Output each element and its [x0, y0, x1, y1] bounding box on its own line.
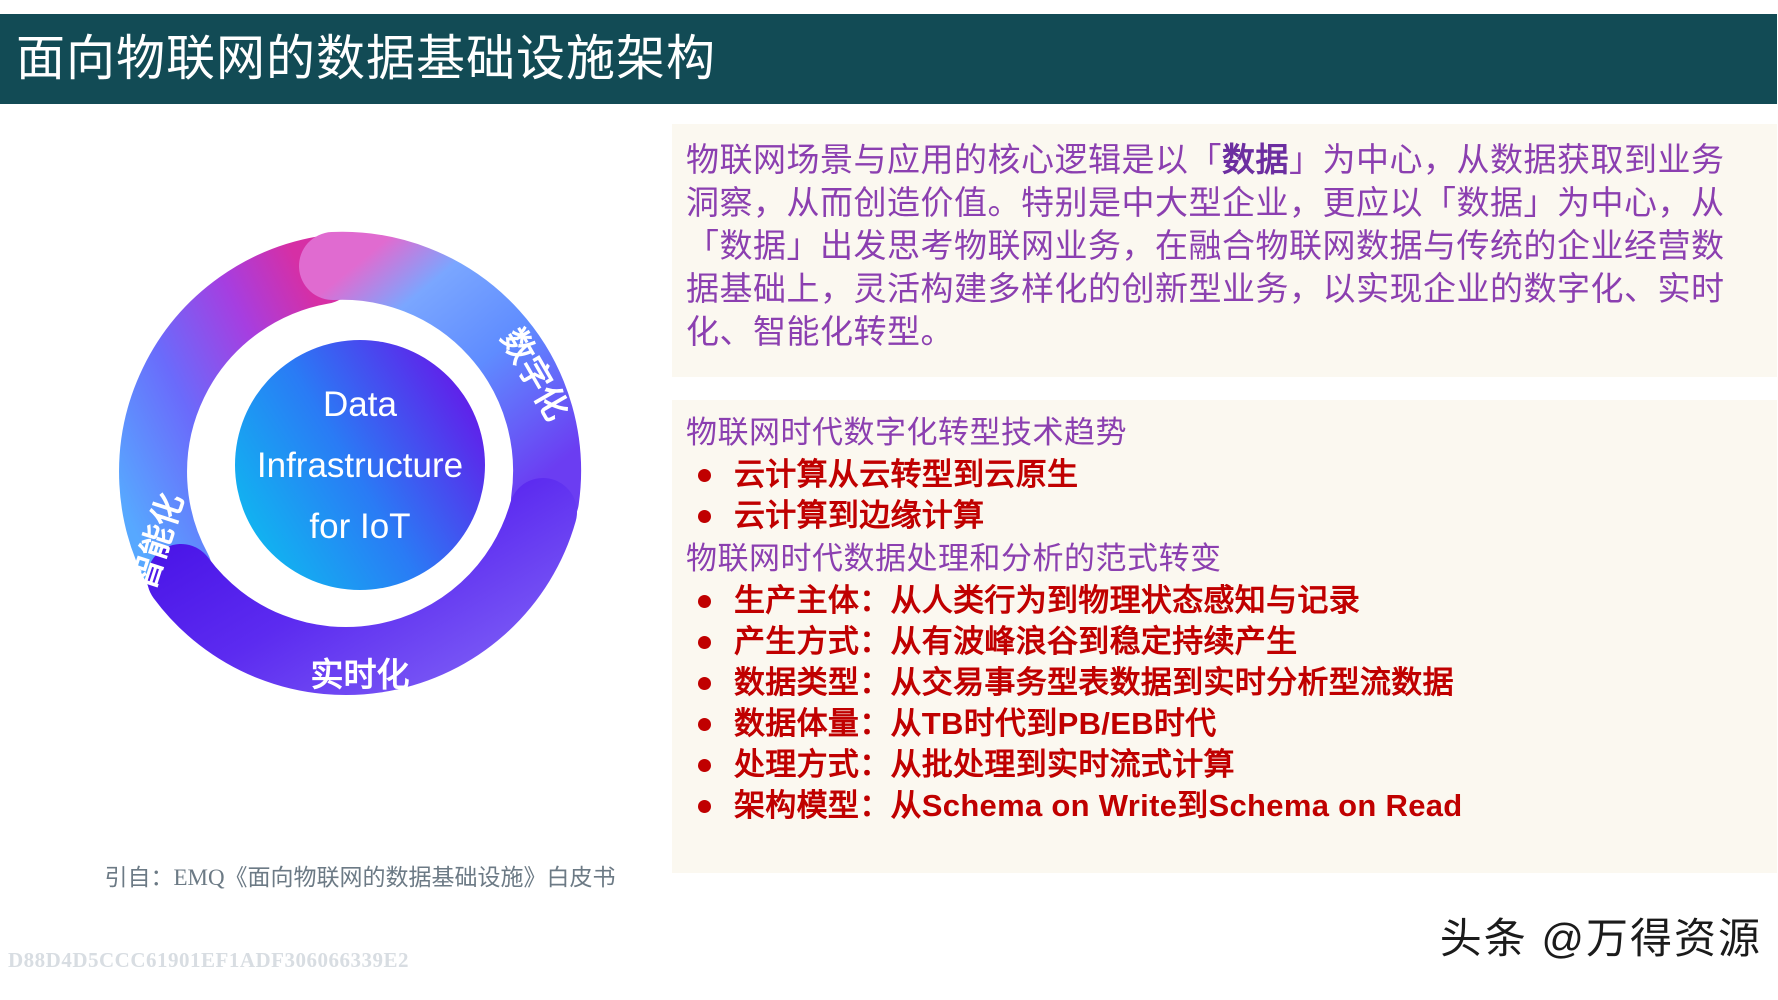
list-item-label: 云计算从云转型到云原生 — [734, 457, 1078, 492]
bullet-dot-icon — [698, 595, 711, 608]
list-item: 云计算从云转型到云原生 — [686, 454, 1767, 495]
donut-center-line2: Infrastructure — [257, 446, 463, 485]
intro-paragraph: 物联网场景与应用的核心逻辑是以「数据」为中心，从数据获取到业务洞察，从而创造价值… — [686, 138, 1755, 353]
intro-part-0: 物联网场景与应用的核心逻辑是以「 — [686, 141, 1222, 178]
list-item: 生产主体：从人类行为到物理状态感知与记录 — [686, 580, 1767, 621]
donut-center-line3: for IoT — [309, 507, 410, 546]
list-item-label: 架构模型：从Schema on Write到Schema on Read — [734, 788, 1463, 823]
list-item: 架构模型：从Schema on Write到Schema on Read — [686, 785, 1767, 826]
list-item: 云计算到边缘计算 — [686, 495, 1767, 536]
list-item: 产生方式：从有波峰浪谷到稳定持续产生 — [686, 621, 1767, 662]
diagram-caption: 引自：EMQ《面向物联网的数据基础设施》白皮书 — [95, 858, 625, 892]
list-item-label: 处理方式：从批处理到实时流式计算 — [734, 747, 1235, 782]
donut-svg: Data Infrastructure for IoT 智能化 数字化 实时化 — [95, 200, 625, 730]
bullet-list-paradigm-shift: 生产主体：从人类行为到物理状态感知与记录 产生方式：从有波峰浪谷到稳定持续产生 … — [686, 580, 1767, 826]
bullet-dot-icon — [698, 759, 711, 772]
bullet-dot-icon — [698, 636, 711, 649]
bullet-dot-icon — [698, 800, 711, 813]
list-item-label: 生产主体：从人类行为到物理状态感知与记录 — [734, 583, 1360, 618]
donut-center-line1: Data — [323, 385, 397, 424]
bullet-dot-icon — [698, 677, 711, 690]
list-item-label: 数据体量：从TB时代到PB/EB时代 — [734, 706, 1216, 741]
list-item: 数据类型：从交易事务型表数据到实时分析型流数据 — [686, 662, 1767, 703]
bullet-list-tech-trends: 云计算从云转型到云原生 云计算到边缘计算 — [686, 454, 1767, 536]
list-item-label: 云计算到边缘计算 — [734, 498, 984, 533]
ring-label-shishihua: 实时化 — [311, 656, 410, 693]
section-heading-tech-trends: 物联网时代数字化转型技术趋势 — [686, 412, 1767, 453]
page-title-band: 面向物联网的数据基础设施架构 — [0, 14, 1777, 104]
list-item: 数据体量：从TB时代到PB/EB时代 — [686, 703, 1767, 744]
intro-highlight-data: 数据 — [1222, 141, 1289, 178]
bullet-dot-icon — [698, 469, 711, 482]
list-item-label: 产生方式：从有波峰浪谷到稳定持续产生 — [734, 624, 1297, 659]
page-title: 面向物联网的数据基础设施架构 — [16, 35, 716, 84]
trends-panel: 物联网时代数字化转型技术趋势 云计算从云转型到云原生 云计算到边缘计算 物联网时… — [672, 400, 1777, 873]
list-item: 处理方式：从批处理到实时流式计算 — [686, 744, 1767, 785]
hash-code-text: D88D4D5CCC61901EF1ADF306066339E2 — [8, 948, 409, 973]
bullet-dot-icon — [698, 718, 711, 731]
intro-panel: 物联网场景与应用的核心逻辑是以「数据」为中心，从数据获取到业务洞察，从而创造价值… — [672, 124, 1777, 377]
watermark-text: 头条 @万得资源 — [1440, 905, 1762, 966]
list-item-label: 数据类型：从交易事务型表数据到实时分析型流数据 — [734, 665, 1454, 700]
section-heading-paradigm-shift: 物联网时代数据处理和分析的范式转变 — [686, 538, 1767, 579]
bullet-dot-icon — [698, 510, 711, 523]
donut-diagram: Data Infrastructure for IoT 智能化 数字化 实时化 — [95, 200, 625, 730]
